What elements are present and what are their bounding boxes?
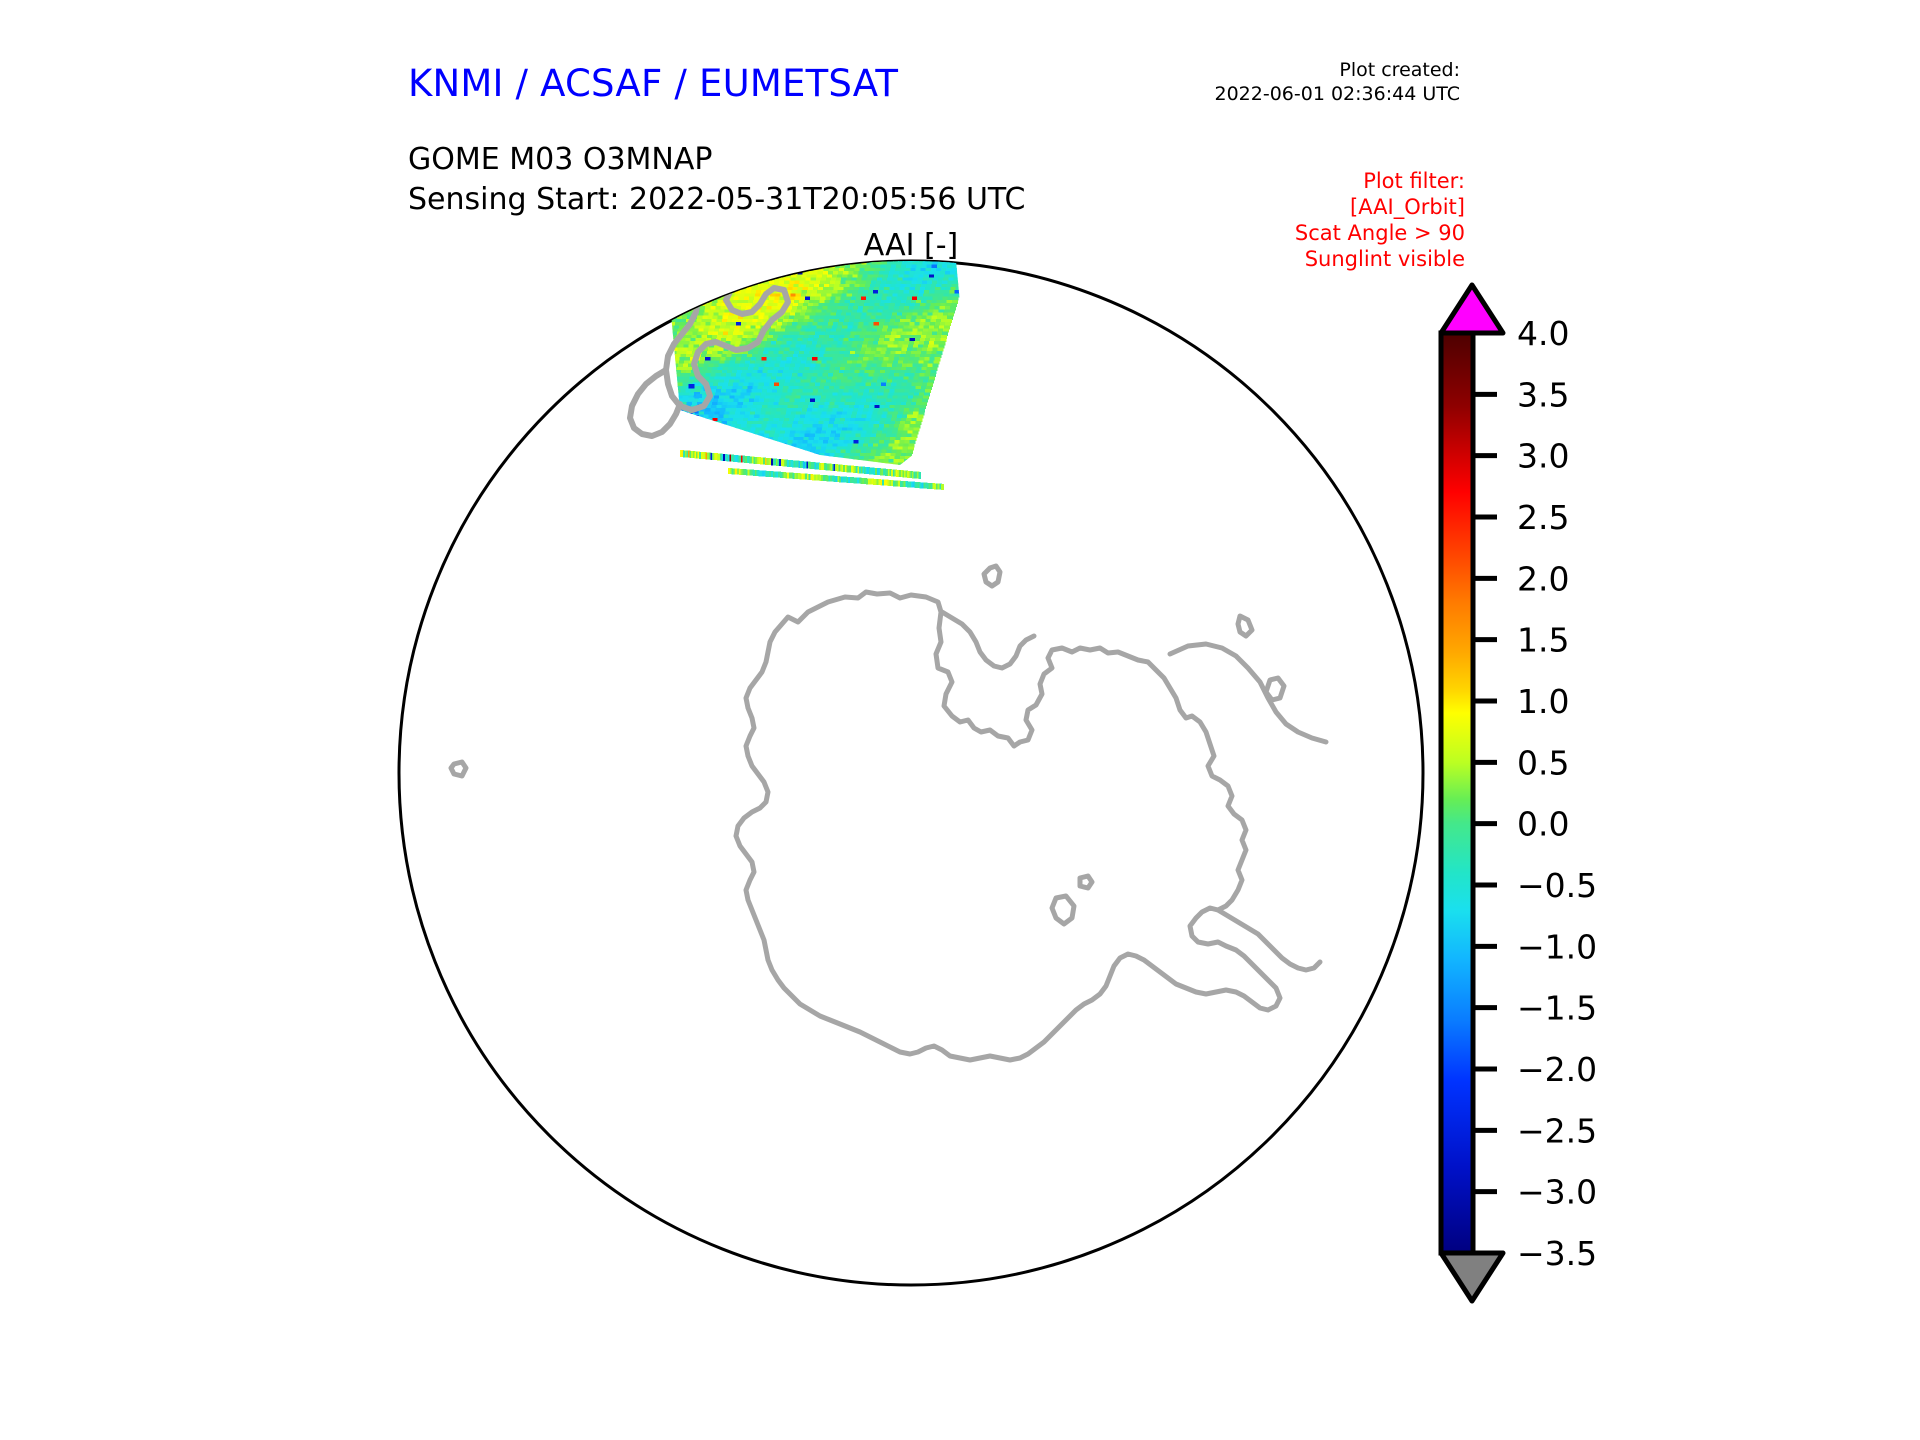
aai-pixel [704,258,710,262]
aai-pixel [737,284,743,288]
aai-pixel [725,274,731,278]
aai-pixel [687,265,693,269]
aai-pixel [748,265,754,269]
aai-pixel [710,290,716,294]
aai-pixel [947,250,953,253]
aai-pixel [671,300,677,304]
aai-pixel [700,271,706,275]
aai-pixel [709,277,715,281]
aai-pixel [706,252,712,256]
aai-pixel [656,316,662,320]
aai-pixel [641,316,647,320]
aai-pixel [811,258,817,262]
aai-pixel [711,252,717,256]
aai-pixel [720,290,726,294]
aai-pixel [664,274,670,278]
aai-pixel [655,271,661,275]
aai-pixel [827,258,833,262]
aai-pixel [771,258,777,262]
aai-pixel [904,255,910,259]
aai-pixel [905,252,911,256]
plot-filter-scat-angle: Scat Angle > 90 [1295,220,1465,246]
aai-pixel [869,252,875,256]
aai-pixel [714,262,720,266]
aai-pixel [753,265,759,269]
aai-pixel [657,262,663,266]
aai-pixel [817,255,823,259]
aai-pixel [783,268,789,272]
aai-pixel [710,255,716,259]
aai-pixel [641,300,647,304]
aai-pixel [760,258,766,262]
aai-pixel [656,268,662,272]
aai-pixel [649,271,655,275]
aai-pixel [652,297,658,301]
aai-pixel [916,250,922,253]
aai-pixel [810,262,816,266]
aai-pixel [729,277,735,281]
aai-pixel [701,268,707,272]
aai-pixel [654,255,660,259]
aai-pixel [665,271,671,275]
aai-pixel [767,271,773,275]
aai-pixel [725,258,731,262]
aai-pixel [784,250,790,253]
aai-pixel [797,255,803,259]
aai-pixel [809,250,815,253]
aai-pixel [889,255,895,259]
aai-pixel [672,265,678,269]
australia-tasmania-edge [380,250,556,300]
aai-pixel [728,265,734,269]
macquarie-island [402,252,438,282]
aai-pixel [732,284,738,288]
aai-pixel [737,252,743,256]
aai-pixel [658,258,664,262]
aai-pixel [724,262,730,266]
aai-pixel [850,250,856,253]
aai-pixel [788,268,794,272]
aai-pixel [645,287,651,291]
aai-pixel [749,262,755,266]
aai-pixel [813,252,819,256]
aai-pixel [822,255,828,259]
aai-pixel [703,297,709,301]
aai-pixel [839,252,845,256]
aai-pixel [829,252,835,256]
aai-pixel [858,255,864,259]
aai-pixel [662,316,668,320]
aai-pixel [694,293,700,297]
aai-pixel [844,252,850,256]
aai-pixel [645,319,651,323]
aai-pixel [663,293,669,297]
aai-pixel [680,306,686,310]
aai-pixel [834,252,840,256]
aai-pixel [960,255,966,259]
aai-pixel [672,281,678,285]
aai-pixel [665,252,671,256]
aai-pixel [915,252,921,256]
aai-pixel [739,262,745,266]
aai-pixel [732,268,738,272]
aai-pixel [865,250,871,253]
aai-pixel [667,265,673,269]
aai-pixel [704,293,710,297]
aai-pixel [924,255,930,259]
aai-pixel [668,277,674,281]
aai-pixel [845,250,851,253]
aai-pixel [670,255,676,259]
aai-pixel [782,255,788,259]
aai-pixel [702,265,708,269]
aai-pixel [727,268,733,272]
aai-pixel [717,284,723,288]
aai-pixel [930,252,936,256]
aai-pixel [673,293,679,297]
aai-pixel [671,268,677,272]
aai-pixel [721,287,727,291]
aai-pixel [789,250,795,253]
aai-pixel [895,252,901,256]
aai-pixel [793,252,799,256]
aai-pixel [747,252,753,256]
aai-pixel [746,255,752,259]
aai-pixel [766,274,772,278]
aai-pixel [735,274,741,278]
aai-pixel [942,250,948,253]
aai-pixel [719,262,725,266]
aai-pixel [744,277,750,281]
aai-pixel [662,265,668,269]
aai-pixel [707,250,713,253]
aai-pixel [671,284,677,288]
aai-pixel [786,258,792,262]
aai-pixel [659,306,665,310]
aai-pixel [694,274,700,278]
aai-pixel [663,277,669,281]
aai-pixel [686,268,692,272]
aai-pixel [822,258,828,262]
aai-pixel [966,252,972,256]
aai-pixel [831,262,837,266]
aai-pixel [733,250,739,253]
aai-pixel [743,281,749,285]
aai-pixel [668,313,674,317]
aai-pixel [721,255,727,259]
aai-pixel [699,274,705,278]
aai-pixel [704,277,710,281]
aai-pixel [698,297,704,301]
aai-pixel [741,271,747,275]
polar-stereographic-map [380,250,1450,1310]
aai-pixel [699,258,705,262]
aai-pixel [643,309,649,313]
plot-filter-product: [AAI_Orbit] [1295,194,1465,220]
aai-pixel [728,281,734,285]
aai-pixel [665,303,671,307]
aai-pixel [658,309,664,313]
aai-pixel [727,252,733,256]
aai-pixel [799,265,805,269]
aai-pixel [733,265,739,269]
aai-pixel [875,250,881,253]
aai-pixel [796,258,802,262]
aai-pixel [849,252,855,256]
aai-pixel [670,306,676,310]
aai-pixel [654,274,660,278]
aai-pixel [771,255,777,259]
aai-pixel [642,313,648,317]
aai-pixel [778,268,784,272]
aai-pixel [635,319,641,323]
aai-pixel [738,265,744,269]
aai-pixel [647,281,653,285]
plot-created-timestamp: 2022-06-01 02:36:44 UTC [1215,82,1461,106]
aai-pixel [666,284,672,288]
aai-pixel [891,250,897,253]
aai-pixel [659,255,665,259]
aai-pixel [873,255,879,259]
aai-pixel [653,277,659,281]
aai-pixel [654,290,660,294]
aai-pixel [676,284,682,288]
aai-pixel [885,252,891,256]
aai-pixel [768,268,774,272]
aai-pixel [639,322,645,326]
aai-pixel [674,290,680,294]
aai-pixel [699,277,705,281]
aai-pixel [642,328,648,332]
aai-pixel [743,265,749,269]
organisation-banner: KNMI / ACSAF / EUMETSAT [408,62,898,105]
aai-pixel [697,265,703,269]
aai-pixel [859,252,865,256]
aai-pixel [672,297,678,301]
aai-pixel [745,258,751,262]
aai-pixel [728,250,734,253]
aai-pixel [677,281,683,285]
plot-created-block: Plot created: 2022-06-01 02:36:44 UTC [1215,58,1461,106]
aai-pixel [640,319,646,323]
aai-pixel [842,258,848,262]
aai-pixel [657,313,663,317]
aai-pixel [647,297,653,301]
aai-pixel [678,262,684,266]
aai-pixel [653,293,659,297]
aai-pixel [952,250,958,253]
aai-pixel [693,277,699,281]
aai-pixel [656,284,662,288]
aai-pixel [772,271,778,275]
aai-pixel [648,309,654,313]
aai-pixel [857,258,863,262]
aai-pixel-edge [696,394,702,398]
aai-pixel [919,255,925,259]
aai-pixel [745,274,751,278]
aai-pixel [773,268,779,272]
aai-pixel [776,258,782,262]
aai-pixel [800,262,806,266]
aai-pixel [723,281,729,285]
aai-pixel [677,250,683,253]
aai-pixel [717,250,723,253]
aai-pixel [660,303,666,307]
aai-pixel [662,281,668,285]
aai-pixel [793,268,799,272]
aai-pixel [955,255,961,259]
aai-pixel [673,262,679,266]
aai-pixel [634,322,640,326]
aai-pixel [638,325,644,329]
aai-pixel [683,297,689,301]
aai-pixel [879,255,885,259]
aai-pixel [768,250,774,253]
aai-pixel [674,309,680,313]
aai-pixel [808,252,814,256]
plot-root: KNMI / ACSAF / EUMETSAT Plot created: 20… [0,0,1920,1440]
aai-pixel [705,290,711,294]
aai-pixel [681,284,687,288]
aai-pixel [686,284,692,288]
aai-pixel [667,297,673,301]
aai-pixel [911,250,917,253]
aai-pixel [967,250,973,253]
aai-pixel [693,262,699,266]
aai-pixel [685,271,691,275]
aai-pixel [784,265,790,269]
aai-pixel [703,262,709,266]
aai-pixel [920,252,926,256]
aai-pixel [790,262,796,266]
aai-pixel [656,265,662,269]
aai-pixel [950,255,956,259]
aai-pixel [687,250,693,253]
aai-pixel [779,265,785,269]
aai-pixel [686,252,692,256]
aai-pixel [653,309,659,313]
aai-pixel [654,306,660,310]
aai-pixel [666,300,672,304]
aai-pixel [660,252,666,256]
aai-pixel [965,255,971,259]
aai-pixel [765,258,771,262]
aai-pixel [750,277,756,281]
aai-pixel [681,252,687,256]
aai-pixel [726,271,732,275]
aai-pixel [937,250,943,253]
aai-pixel [651,316,657,320]
aai-pixel [662,297,668,301]
aai-pixel [906,250,912,253]
aai-pixel [732,252,738,256]
aai-pixel [763,268,769,272]
aai-pixel [757,268,763,272]
aai-pixel [660,287,666,291]
aai-pixel [901,250,907,253]
aai-pixel [852,258,858,262]
aai-pixel [702,284,708,288]
aai-pixel [855,250,861,253]
aai-pixel [782,271,788,275]
sensing-start-line: Sensing Start: 2022-05-31T20:05:56 UTC [408,180,1025,220]
aai-pixel [792,255,798,259]
aai-pixel [686,303,692,307]
aai-pixel [646,284,652,288]
aai-pixel [723,265,729,269]
aai-pixel [804,265,810,269]
aai-pixel [749,281,755,285]
aai-pixel [814,250,820,253]
aai-pixel [716,287,722,291]
aai-pixel [777,255,783,259]
aai-pixel [656,300,662,304]
aai-pixel [683,262,689,266]
aai-pixel [788,252,794,256]
aai-pixel [670,303,676,307]
aai-pixel [670,287,676,291]
aai-pixel [837,258,843,262]
aai-pixel [644,306,650,310]
aai-pixel [688,262,694,266]
aai-pixel [692,265,698,269]
aai-pixel [752,268,758,272]
aai-pixel [674,274,680,278]
aai-pixel [640,303,646,307]
aai-pixel [692,300,698,304]
aai-pixel [660,271,666,275]
aai-pixel [663,313,669,317]
aai-pixel [666,250,672,253]
aai-pixel [730,258,736,262]
aai-pixel [661,284,667,288]
aai-pixel [697,284,703,288]
aai-pixel [929,255,935,259]
aai-pixel [687,300,693,304]
aai-pixel [785,262,791,266]
plot-created-label: Plot created: [1215,58,1461,82]
aai-pixel [832,258,838,262]
aai-pixel [683,277,689,281]
aai-pixel [751,255,757,259]
aai-pixel [961,252,967,256]
aai-pixel [648,277,654,281]
aai-pixel [720,258,726,262]
aai-pixel [682,250,688,253]
aai-pixel [840,250,846,253]
aai-pixel [648,293,654,297]
aai-pixel [779,250,785,253]
instrument-product-line: GOME M03 O3MNAP [408,140,1025,180]
aai-pixel [664,306,670,310]
aai-pixel [828,255,834,259]
aai-pixel [750,274,756,278]
aai-pixel [655,287,661,291]
aai-pixel [712,268,718,272]
aai-pixel [709,293,715,297]
aai-pixel [755,277,761,281]
aai-pixel [730,274,736,278]
aai-pixel [743,250,749,253]
aai-pixel [935,255,941,259]
aai-pixel [914,255,920,259]
aai-pixel [798,252,804,256]
aai-pixel [711,271,717,275]
aai-pixel [697,250,703,253]
aai-pixel [644,322,650,326]
aai-pixel [762,271,768,275]
aai-pixel [655,252,661,256]
